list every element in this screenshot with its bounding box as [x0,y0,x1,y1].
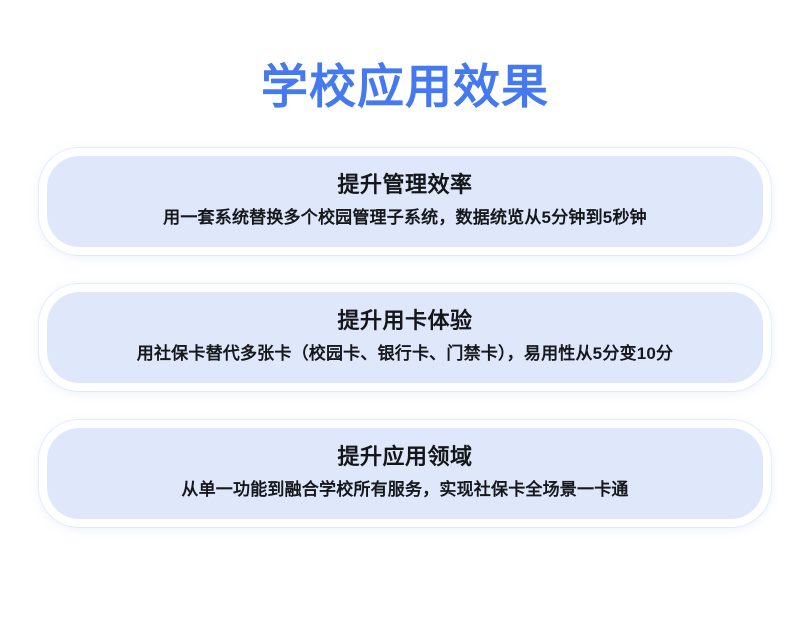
benefit-card-2-description: 用社保卡替代多张卡（校园卡、银行卡、门禁卡），易用性从5分变10分 [73,340,737,367]
benefit-card-1-description: 用一套系统替换多个校园管理子系统，数据统览从5分钟到5秒钟 [73,204,737,231]
benefit-card-3-title: 提升应用领域 [73,441,737,473]
page-title: 学校应用效果 [0,58,810,116]
benefit-card-2: 提升用卡体验 用社保卡替代多张卡（校园卡、银行卡、门禁卡），易用性从5分变10分 [39,284,771,391]
slide-root: 学校应用效果 提升管理效率 用一套系统替换多个校园管理子系统，数据统览从5分钟到… [0,0,810,622]
benefit-card-3: 提升应用领域 从单一功能到融合学校所有服务，实现社保卡全场景一卡通 [39,420,771,527]
benefit-card-1-title: 提升管理效率 [73,169,737,201]
benefit-card-3-description: 从单一功能到融合学校所有服务，实现社保卡全场景一卡通 [73,476,737,503]
benefit-card-list: 提升管理效率 用一套系统替换多个校园管理子系统，数据统览从5分钟到5秒钟 提升用… [0,148,810,527]
benefit-card-1: 提升管理效率 用一套系统替换多个校园管理子系统，数据统览从5分钟到5秒钟 [39,148,771,255]
benefit-card-2-body: 提升用卡体验 用社保卡替代多张卡（校园卡、银行卡、门禁卡），易用性从5分变10分 [47,292,763,383]
benefit-card-3-body: 提升应用领域 从单一功能到融合学校所有服务，实现社保卡全场景一卡通 [47,428,763,519]
benefit-card-1-body: 提升管理效率 用一套系统替换多个校园管理子系统，数据统览从5分钟到5秒钟 [47,156,763,247]
benefit-card-2-title: 提升用卡体验 [73,305,737,337]
